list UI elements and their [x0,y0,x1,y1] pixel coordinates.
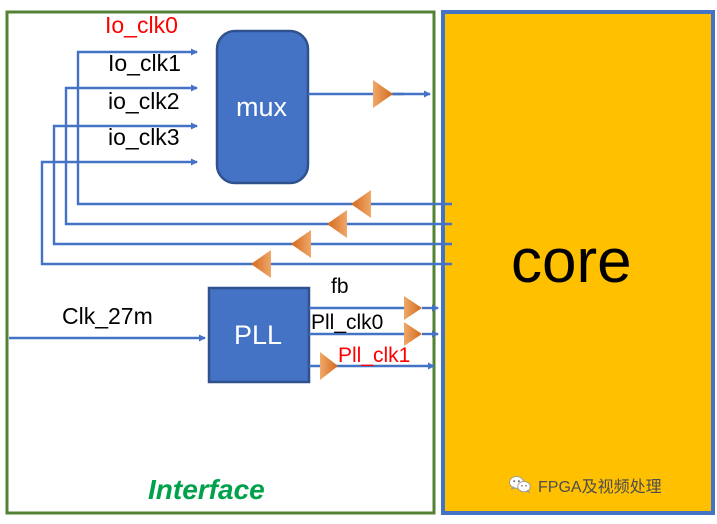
buffer-icon-feedback-1 [351,190,371,218]
mux-input-label-2: io_clk2 [108,90,180,113]
pll-input-label: Clk_27m [62,305,153,328]
mux-input-label-0: Io_clk0 [105,14,178,37]
buffer-icon-feedback-2 [327,210,347,238]
buffer-icon-fb [404,296,422,320]
core-block-label: core [511,226,632,297]
buffer-icon-mux-output [373,80,393,108]
pll-output-label-clk0: Pll_clk0 [311,312,383,333]
watermark-text: FPGA及视频处理 [538,473,662,497]
buffer-icon-feedback-3 [291,230,311,258]
buffer-icon-pll-clk0 [404,322,422,346]
mux-block-label: mux [236,92,287,123]
watermark: FPGA及视频处理 [509,473,662,497]
interface-region-label: Interface [148,474,265,506]
wechat-icon [509,476,531,494]
pll-block-label: PLL [234,320,282,351]
pll-output-label-fb: fb [331,276,349,297]
mux-input-label-3: io_clk3 [108,126,180,149]
diagram-canvas: Io_clk0 Io_clk1 io_clk2 io_clk3 mux PLL … [0,0,717,524]
mux-input-label-1: Io_clk1 [108,52,181,75]
buffer-icon-pll-clk1 [320,352,338,380]
buffer-icon-feedback-4 [251,250,271,278]
pll-output-label-clk1: Pll_clk1 [338,345,410,366]
